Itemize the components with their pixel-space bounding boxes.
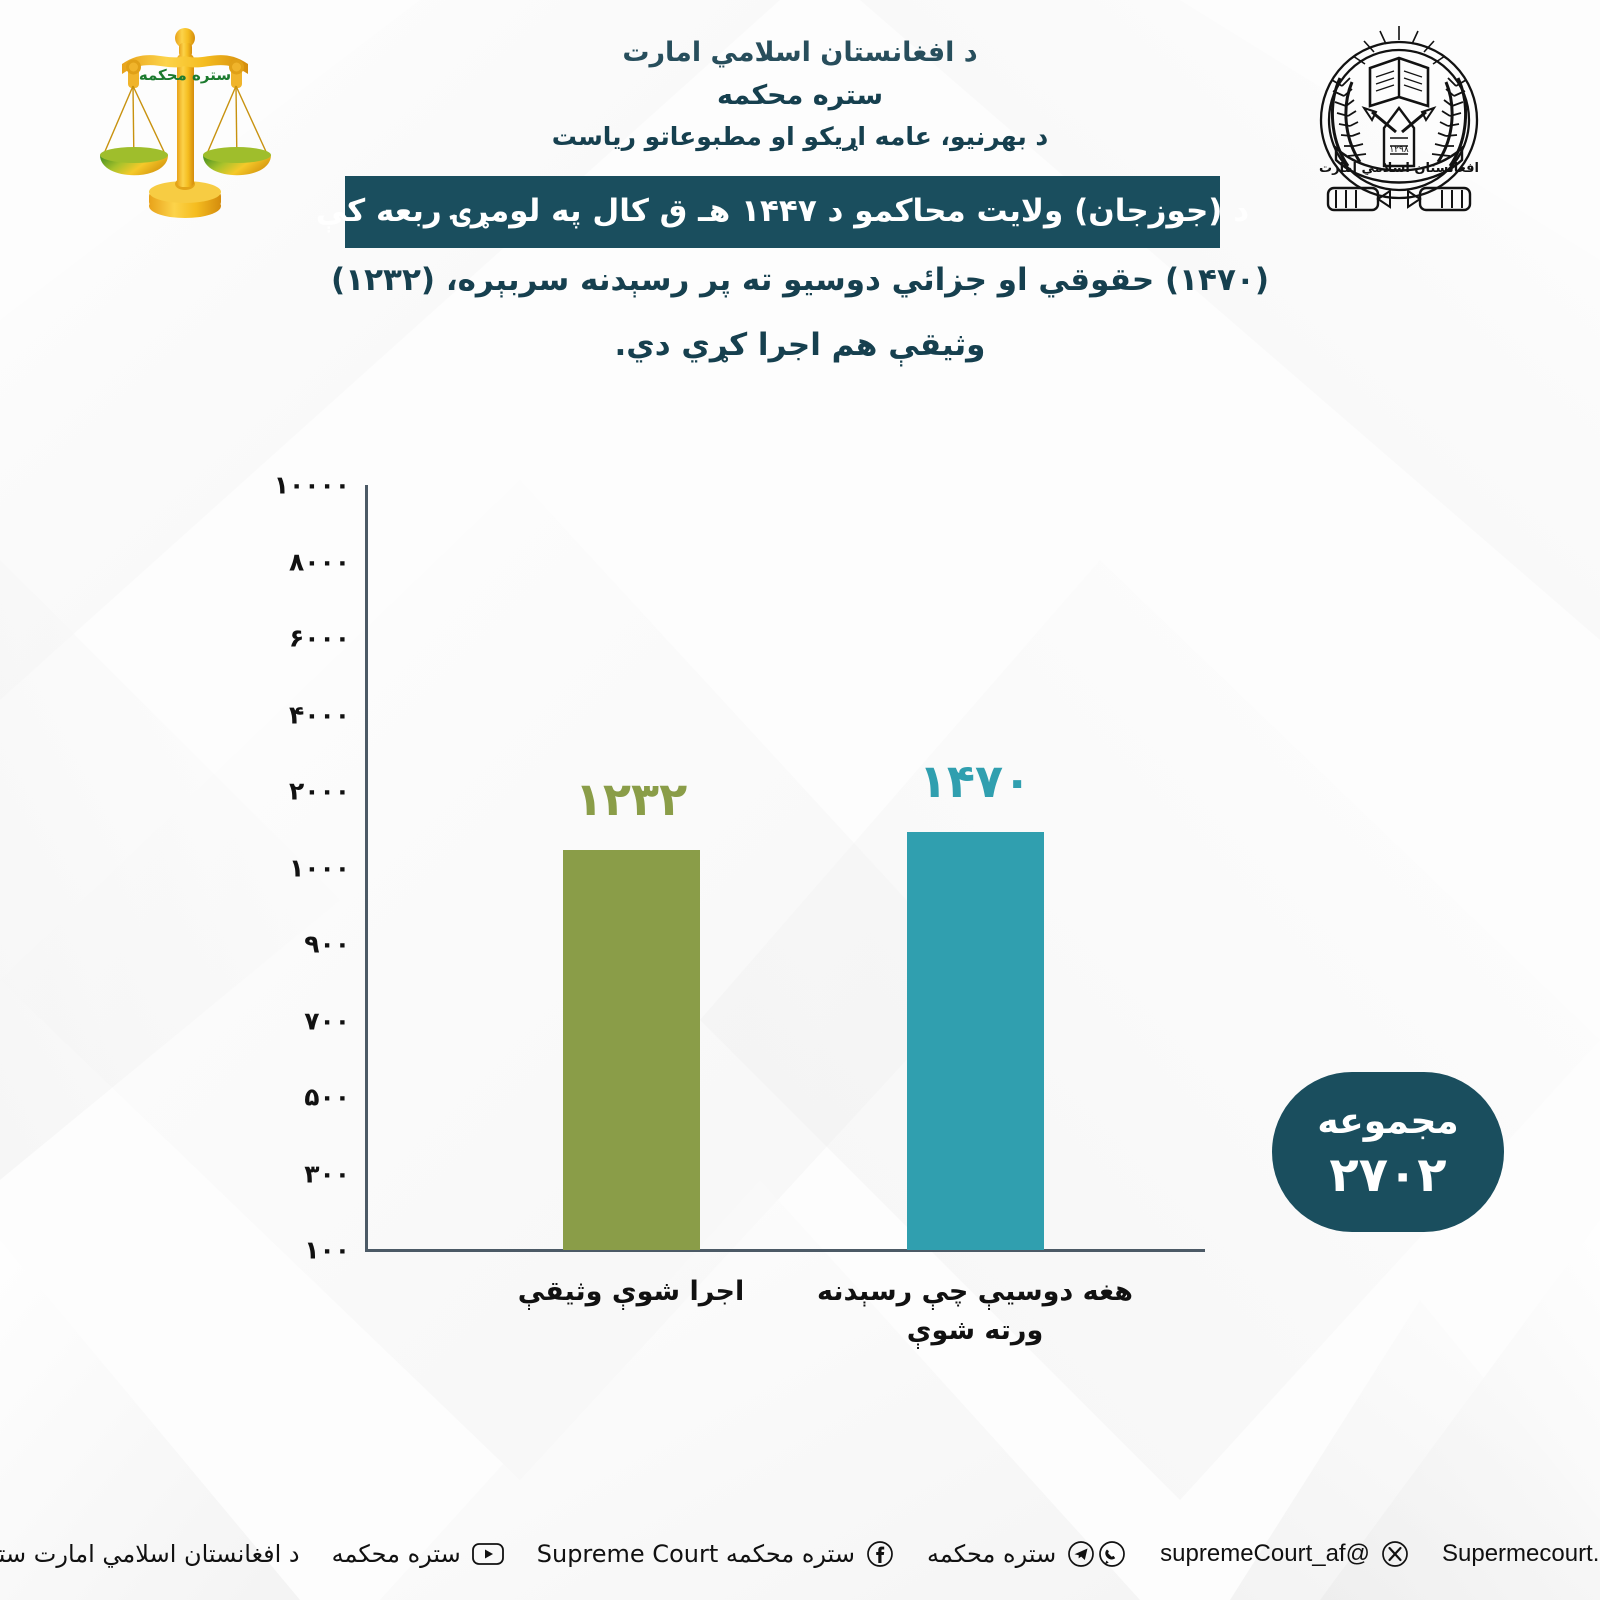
org-department: د بهرنیو، عامه اړیکو او مطبوعاتو ریاست (400, 123, 1200, 152)
page-title: د (جوزجان) ولایت محاکمو د ۱۴۴۷ هـ ق کال … (302, 194, 1263, 230)
organization-titles: د افغانستان اسلامي امارت ستره محکمه د به… (400, 38, 1200, 151)
total-badge-label: مجموعه (1317, 1102, 1458, 1142)
y-axis-line (365, 485, 368, 1251)
y-axis-tick-label: ۸۰۰۰ (289, 547, 350, 576)
footer-item-label: ستره محکمه (332, 1540, 461, 1568)
footer-item-label: ستره محکمه (927, 1540, 1056, 1568)
footer-item-label: د افغانستان اسلامي امارت ستره محکمه (0, 1540, 300, 1568)
subtitle-block: (۱۴۷۰) حقوقي او جزائي دوسیو ته پر رسېدنه… (200, 258, 1400, 368)
y-axis-tick-label: ۱۰۰۰ (289, 853, 350, 882)
category-label-line: اجرا شوې وثیقې (451, 1272, 811, 1311)
y-axis-tick-label: ۶۰۰۰ (289, 624, 350, 653)
chart-bar (563, 850, 700, 1250)
footer-item[interactable]: @supremeCourt_af (1160, 1539, 1410, 1569)
footer-item-label: @supremeCourt_af (1160, 1540, 1370, 1568)
x-axis-category-label: اجرا شوې وثیقې (451, 1272, 811, 1311)
footer-item[interactable]: د افغانستان اسلامي امارت ستره محکمه (0, 1540, 300, 1568)
footer-item-label: Supermecourt.gov.af (1442, 1540, 1600, 1568)
footer-item[interactable]: Supermecourt.gov.af (1442, 1539, 1600, 1569)
x-axis-category-label: هغه دوسیې چې رسېدنهورته شوې (795, 1272, 1155, 1350)
facebook-icon[interactable] (865, 1539, 895, 1569)
chart-bar (907, 832, 1044, 1250)
total-badge: مجموعه ۲۷۰۲ (1272, 1072, 1504, 1232)
scales-of-justice-logo: ستره محکمه (78, 18, 293, 233)
y-axis-tick-label: ۵۰۰ (304, 1083, 350, 1112)
emblem-date-text: ۱۲۹۸ (1389, 145, 1409, 155)
subtitle-line-2: وثیقې هم اجرا کړي دي. (200, 323, 1400, 368)
bar-value-label: ۱۲۳۲ (481, 772, 781, 826)
youtube-icon[interactable] (471, 1540, 505, 1568)
footer-item-label: ستره محکمه Supreme Court (537, 1540, 855, 1568)
footer-item[interactable]: ستره محکمه Supreme Court (537, 1539, 895, 1569)
scales-logo-text: ستره محکمه (139, 66, 231, 84)
emblem-country-text: افغانستان اسلامي امارت (1319, 161, 1479, 176)
category-label-line: ورته شوې (795, 1311, 1155, 1350)
y-axis-tick-label: ۹۰۰ (304, 930, 350, 959)
x-axis-line (365, 1249, 1205, 1252)
footer-item[interactable]: ستره محکمه (332, 1540, 505, 1568)
y-axis-tick-label: ۴۰۰۰ (289, 700, 350, 729)
org-name-court: ستره محکمه (400, 80, 1200, 111)
footer-item[interactable]: ستره محکمه (927, 1539, 1128, 1569)
bar-value-label: ۱۴۷۰ (825, 754, 1125, 808)
y-axis-tick-label: ۲۰۰۰ (289, 777, 350, 806)
footer-social-bar: Supermecourt.gov.af@supremeCourt_afستره … (0, 1524, 1600, 1584)
total-badge-value: ۲۷۰۲ (1329, 1149, 1446, 1202)
subtitle-line-1: (۱۴۷۰) حقوقي او جزائي دوسیو ته پر رسېدنه… (200, 258, 1400, 303)
telegram-whatsapp-icon[interactable] (1066, 1539, 1128, 1569)
y-axis-tick-label: ۳۰۰ (304, 1159, 350, 1188)
y-axis-tick-label: ۷۰۰ (304, 1006, 350, 1035)
title-banner: د (جوزجان) ولایت محاکمو د ۱۴۴۷ هـ ق کال … (345, 176, 1220, 248)
x-twitter-icon[interactable] (1380, 1539, 1410, 1569)
y-axis-tick-label: ۱۰۰۰۰ (274, 471, 350, 500)
category-label-line: هغه دوسیې چې رسېدنه (795, 1272, 1155, 1311)
org-name-calligraphic: د افغانستان اسلامي امارت (400, 38, 1200, 68)
y-axis-tick-labels: ۱۰۰۰۰۸۰۰۰۶۰۰۰۴۰۰۰۲۰۰۰۱۰۰۰۹۰۰۷۰۰۵۰۰۳۰۰۱۰۰ (255, 430, 350, 1410)
afghanistan-national-emblem: ۱۲۹۸ افغانستان اسلامي امارت (1292, 20, 1507, 235)
y-axis-tick-label: ۱۰۰ (304, 1236, 350, 1265)
